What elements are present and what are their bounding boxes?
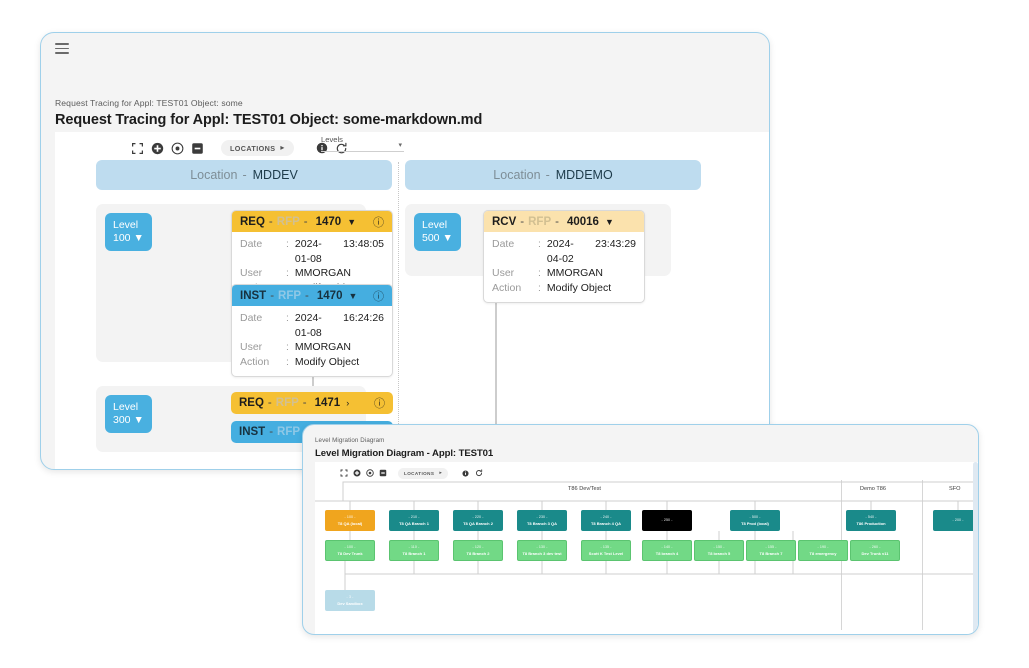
- level-badge-number: 300: [113, 414, 131, 426]
- card-rfp: RFP: [277, 426, 300, 438]
- chevron-right-icon[interactable]: ›: [346, 398, 349, 408]
- card-row: Date:2024-04-0223:43:29: [492, 237, 636, 266]
- node-id: - 100 -: [344, 545, 355, 550]
- fullscreen-icon[interactable]: [337, 467, 350, 480]
- level-badge-title: Level: [422, 219, 461, 232]
- node-label: T8 Branch 1: [403, 551, 426, 556]
- row-colon: :: [286, 237, 289, 266]
- migration-node[interactable]: - 135 - Scott K Test Level: [581, 540, 631, 561]
- migration-node[interactable]: - 500 - T8 Prod (local): [730, 510, 780, 531]
- card-row: Date:2024-01-0813:48:05: [240, 237, 384, 266]
- migration-node[interactable]: - 190 - T8 emergency: [798, 540, 848, 561]
- levels-select[interactable]: Levels ▾: [321, 135, 404, 152]
- card-sep2: -: [303, 397, 307, 409]
- row-key: Action: [240, 355, 286, 370]
- node-label: T8 emergency: [810, 551, 837, 556]
- card-rfp: RFP: [276, 397, 299, 409]
- migration-node[interactable]: - 250 -: [642, 510, 692, 531]
- refresh-icon[interactable]: [472, 467, 485, 480]
- card-sep: -: [520, 216, 524, 228]
- chevron-down-icon: ▼: [133, 232, 143, 244]
- row-value: 2024-01-08: [295, 237, 329, 266]
- location-column-mddemo: Location - MDDEMO: [405, 160, 701, 190]
- info-icon[interactable]: ⓘ: [373, 214, 384, 230]
- card-body: Date:2024-01-0816:24:26 User:MMORGAN Act…: [232, 306, 392, 376]
- migration-node[interactable]: - 3 - Dev Sandbox: [325, 590, 375, 611]
- row-value: MMORGAN: [547, 266, 603, 281]
- row-colon: :: [538, 281, 541, 296]
- node-id: - 130 -: [536, 545, 547, 550]
- location-dash: -: [546, 168, 550, 182]
- row-key: Date: [492, 237, 538, 266]
- zoom-out-icon[interactable]: [187, 138, 207, 158]
- row-value2: 23:43:29: [595, 237, 636, 266]
- location-column-mddev: Location - MDDEV: [96, 160, 392, 190]
- chevron-down-icon: ▾: [398, 141, 402, 149]
- request-tracing-window: Request Tracing for Appl: TEST01 Object:…: [40, 32, 770, 470]
- page-title: Request Tracing for Appl: TEST01 Object:…: [55, 112, 482, 128]
- node-label: T8 Branch 4 QA: [591, 521, 621, 526]
- card-kind: REQ: [240, 216, 265, 228]
- level-badge-title: Level: [113, 401, 152, 414]
- node-id: - 240 -: [600, 515, 611, 520]
- zoom-in-icon[interactable]: [350, 467, 363, 480]
- node-label: T8 Branch 7: [760, 551, 783, 556]
- vertical-scrollbar[interactable]: [973, 462, 978, 634]
- location-header: Location - MDDEMO: [405, 160, 701, 190]
- card-kind: RCV: [492, 216, 516, 228]
- card-rfp: RFP: [277, 216, 300, 228]
- chevron-down-icon: ▼: [133, 414, 143, 426]
- chevron-right-icon: ▸: [280, 144, 284, 152]
- node-label: T8 QA Branch 1: [399, 521, 429, 526]
- row-key: Action: [492, 281, 538, 296]
- location-name: MDDEV: [253, 168, 298, 182]
- card-header[interactable]: RCV - RFP - 40016 ▼: [484, 211, 644, 232]
- card-row: Action:Modify Object: [492, 281, 636, 296]
- node-id: - 110 -: [409, 545, 420, 550]
- page-title: Level Migration Diagram - Appl: TEST01: [315, 448, 493, 459]
- card-sep: -: [269, 426, 273, 438]
- card-row: User:MMORGAN: [240, 266, 384, 281]
- migration-node[interactable]: - 240 - T8 Branch 4 QA: [581, 510, 631, 531]
- info-icon[interactable]: ⓘ: [374, 395, 385, 411]
- migration-node[interactable]: - 540 - T86 Production: [846, 510, 896, 531]
- card-sep2: -: [304, 216, 308, 228]
- level-badge-number: 100: [113, 232, 131, 244]
- node-id: - 135 -: [600, 545, 611, 550]
- card-body: Date:2024-04-0223:43:29 User:MMORGAN Act…: [484, 232, 644, 302]
- level-migration-window: Level Migration Diagram Level Migration …: [302, 424, 979, 635]
- diagram-toolbar: LOCATIONS ▸: [337, 466, 485, 480]
- tracing-canvas: LOCATIONS ▸ Levels ▾ Locat: [55, 132, 769, 469]
- event-card-inst-1470[interactable]: INST - RFP - 1470 ▼ ⓘ Date:2024-01-0816:…: [231, 284, 393, 377]
- row-key: User: [240, 266, 286, 281]
- migration-node[interactable]: - 210 - T8 QA Branch 1: [389, 510, 439, 531]
- migration-node[interactable]: - 230 - T8 Branch 3 QA: [517, 510, 567, 531]
- row-value2: 13:48:05: [343, 237, 384, 266]
- level-badge[interactable]: Level 300 ▼: [105, 395, 152, 433]
- row-key: User: [240, 340, 286, 355]
- node-id: - 200 -: [952, 518, 963, 523]
- migration-node[interactable]: - 130 - T8 Branch 3 dev test: [517, 540, 567, 561]
- node-id: - 120 -: [472, 545, 483, 550]
- chevron-right-icon: ▸: [439, 471, 442, 476]
- card-sep: -: [269, 216, 273, 228]
- migration-node[interactable]: - 155 - T8 Branch 7: [746, 540, 796, 561]
- node-label: Dev Trunk v11: [862, 551, 889, 556]
- row-value: Modify Object: [547, 281, 611, 296]
- card-kind: INST: [240, 290, 266, 302]
- card-rfp: RFP: [528, 216, 551, 228]
- migration-column-header: SFO: [949, 486, 961, 492]
- migration-node[interactable]: - 110 - T8 Branch 1: [389, 540, 439, 561]
- card-row: Action:Modify Object: [240, 355, 384, 370]
- locations-chip-label: LOCATIONS: [230, 144, 275, 153]
- level-badge[interactable]: Level 100 ▼: [105, 213, 152, 251]
- card-sep2: -: [305, 290, 309, 302]
- node-label: T8 QA (local): [338, 521, 363, 526]
- migration-column-header: Demo T86: [860, 486, 886, 492]
- card-rfp: RFP: [278, 290, 301, 302]
- row-value: 2024-04-02: [547, 237, 581, 266]
- location-label: Location: [493, 168, 540, 182]
- node-id: - 3 -: [347, 595, 354, 600]
- node-id: - 230 -: [536, 515, 547, 520]
- migration-node[interactable]: - 200 -: [933, 510, 978, 531]
- node-label: T8 Branch 3 dev test: [522, 551, 561, 556]
- location-label: Location: [190, 168, 237, 182]
- location-header: Location - MDDEV: [96, 160, 392, 190]
- locations-chip-label: LOCATIONS: [404, 471, 434, 476]
- card-number: 1470: [316, 216, 342, 228]
- node-label: T8 branch 4: [656, 551, 678, 556]
- location-dash: -: [242, 168, 246, 182]
- node-label: T8 Branch 3 QA: [527, 521, 557, 526]
- row-colon: :: [286, 266, 289, 281]
- node-id: - 250 -: [661, 518, 672, 523]
- card-kind: INST: [239, 426, 265, 438]
- node-label: T8 Dev Trunk: [337, 551, 362, 556]
- migration-node[interactable]: - 220 - T8 QA Branch 2: [453, 510, 503, 531]
- node-label: Scott K Test Level: [589, 551, 623, 556]
- node-id: - 150 -: [713, 545, 724, 550]
- migration-node[interactable]: - 260 - Dev Trunk v11: [850, 540, 900, 561]
- node-id: - 100 -: [344, 515, 355, 520]
- breadcrumb: Level Migration Diagram: [315, 437, 384, 444]
- row-colon: :: [286, 311, 289, 340]
- zoom-in-icon[interactable]: [147, 138, 167, 158]
- zoom-out-icon[interactable]: [376, 467, 389, 480]
- diagram-toolbar: LOCATIONS ▸: [127, 137, 352, 159]
- node-id: - 260 -: [869, 545, 880, 550]
- node-label: T8 Prod (local): [741, 521, 769, 526]
- migration-node[interactable]: - 100 - T8 Dev Trunk: [325, 540, 375, 561]
- card-header[interactable]: INST - RFP - 1470 ▼ ⓘ: [232, 285, 392, 306]
- node-id: - 500 -: [749, 515, 760, 520]
- row-colon: :: [286, 340, 289, 355]
- card-kind: REQ: [239, 397, 264, 409]
- migration-canvas: LOCATIONS ▸ T86 Dev/Test Demo T86 SFO: [315, 462, 978, 634]
- locations-chip[interactable]: LOCATIONS ▸: [221, 140, 294, 156]
- chevron-down-icon[interactable]: ▼: [605, 217, 614, 227]
- breadcrumb: Request Tracing for Appl: TEST01 Object:…: [55, 98, 243, 108]
- migration-node[interactable]: - 140 - T8 branch 4: [642, 540, 692, 561]
- card-row: Date:2024-01-0816:24:26: [240, 311, 384, 340]
- row-value: Modify Object: [295, 355, 359, 370]
- center-target-icon[interactable]: [363, 467, 376, 480]
- card-sep2: -: [555, 216, 559, 228]
- center-target-icon[interactable]: [167, 138, 187, 158]
- chevron-down-icon[interactable]: ▼: [348, 291, 357, 301]
- card-header[interactable]: REQ - RFP - 1470 ▼ ⓘ: [232, 211, 392, 232]
- migration-column-divider: [922, 480, 923, 630]
- level-badge[interactable]: Level 500 ▼: [414, 213, 461, 251]
- row-colon: :: [286, 355, 289, 370]
- chevron-down-icon[interactable]: ▼: [347, 217, 356, 227]
- node-id: - 220 -: [472, 515, 483, 520]
- level-badge-number: 500: [422, 232, 440, 244]
- row-value: 2024-01-08: [295, 311, 329, 340]
- levels-select-label: Levels: [321, 135, 404, 144]
- card-header[interactable]: REQ - RFP - 1471 › ⓘ: [231, 392, 393, 414]
- migration-node[interactable]: - 100 - T8 QA (local): [325, 510, 375, 531]
- location-name: MDDEMO: [556, 168, 613, 182]
- row-key: Date: [240, 237, 286, 266]
- chevron-down-icon: ▼: [442, 232, 452, 244]
- node-label: T8 branch 5: [708, 551, 730, 556]
- hamburger-menu-icon[interactable]: [55, 43, 69, 53]
- node-label: T8 QA Branch 2: [463, 521, 493, 526]
- card-sep: -: [268, 397, 272, 409]
- node-label: T86 Production: [856, 521, 885, 526]
- level-group-500: Level 500 ▼ RCV - RFP - 40016 ▼ Dat: [405, 204, 671, 276]
- card-row: User:MMORGAN: [240, 340, 384, 355]
- row-colon: :: [538, 266, 541, 281]
- screenshot-root: Request Tracing for Appl: TEST01 Object:…: [0, 0, 1029, 668]
- row-colon: :: [538, 237, 541, 266]
- level-badge-title: Level: [113, 219, 152, 232]
- event-card-rcv-40016[interactable]: RCV - RFP - 40016 ▼ Date:2024-04-0223:43…: [483, 210, 645, 303]
- card-number: 40016: [567, 216, 599, 228]
- row-key: User: [492, 266, 538, 281]
- node-id: - 155 -: [765, 545, 776, 550]
- event-card-req-1471[interactable]: REQ - RFP - 1471 › ⓘ: [231, 392, 393, 414]
- node-id: - 540 -: [865, 515, 876, 520]
- node-id: - 210 -: [408, 515, 419, 520]
- migration-node[interactable]: - 120 - T8 Branch 2: [453, 540, 503, 561]
- info-icon[interactable]: ⓘ: [373, 288, 384, 304]
- migration-node[interactable]: - 150 - T8 branch 5: [694, 540, 744, 561]
- migration-column-header: T86 Dev/Test: [568, 486, 601, 492]
- row-value: MMORGAN: [295, 266, 351, 281]
- node-label: T8 Branch 2: [467, 551, 490, 556]
- row-key: Date: [240, 311, 286, 340]
- fullscreen-icon[interactable]: [127, 138, 147, 158]
- card-sep: -: [270, 290, 274, 302]
- node-label: Dev Sandbox: [337, 601, 362, 606]
- card-row: User:MMORGAN: [492, 266, 636, 281]
- row-value2: 16:24:26: [343, 311, 384, 340]
- level-group-100: Level 100 ▼ REQ - RFP - 1470 ▼ ⓘ: [96, 204, 366, 362]
- node-id: - 190 -: [817, 545, 828, 550]
- row-value: MMORGAN: [295, 340, 351, 355]
- card-number: 1470: [317, 290, 343, 302]
- card-number: 1471: [315, 397, 341, 409]
- info-icon[interactable]: [459, 467, 472, 480]
- column-divider: [398, 162, 399, 462]
- node-id: - 140 -: [661, 545, 672, 550]
- locations-chip[interactable]: LOCATIONS ▸: [398, 468, 448, 479]
